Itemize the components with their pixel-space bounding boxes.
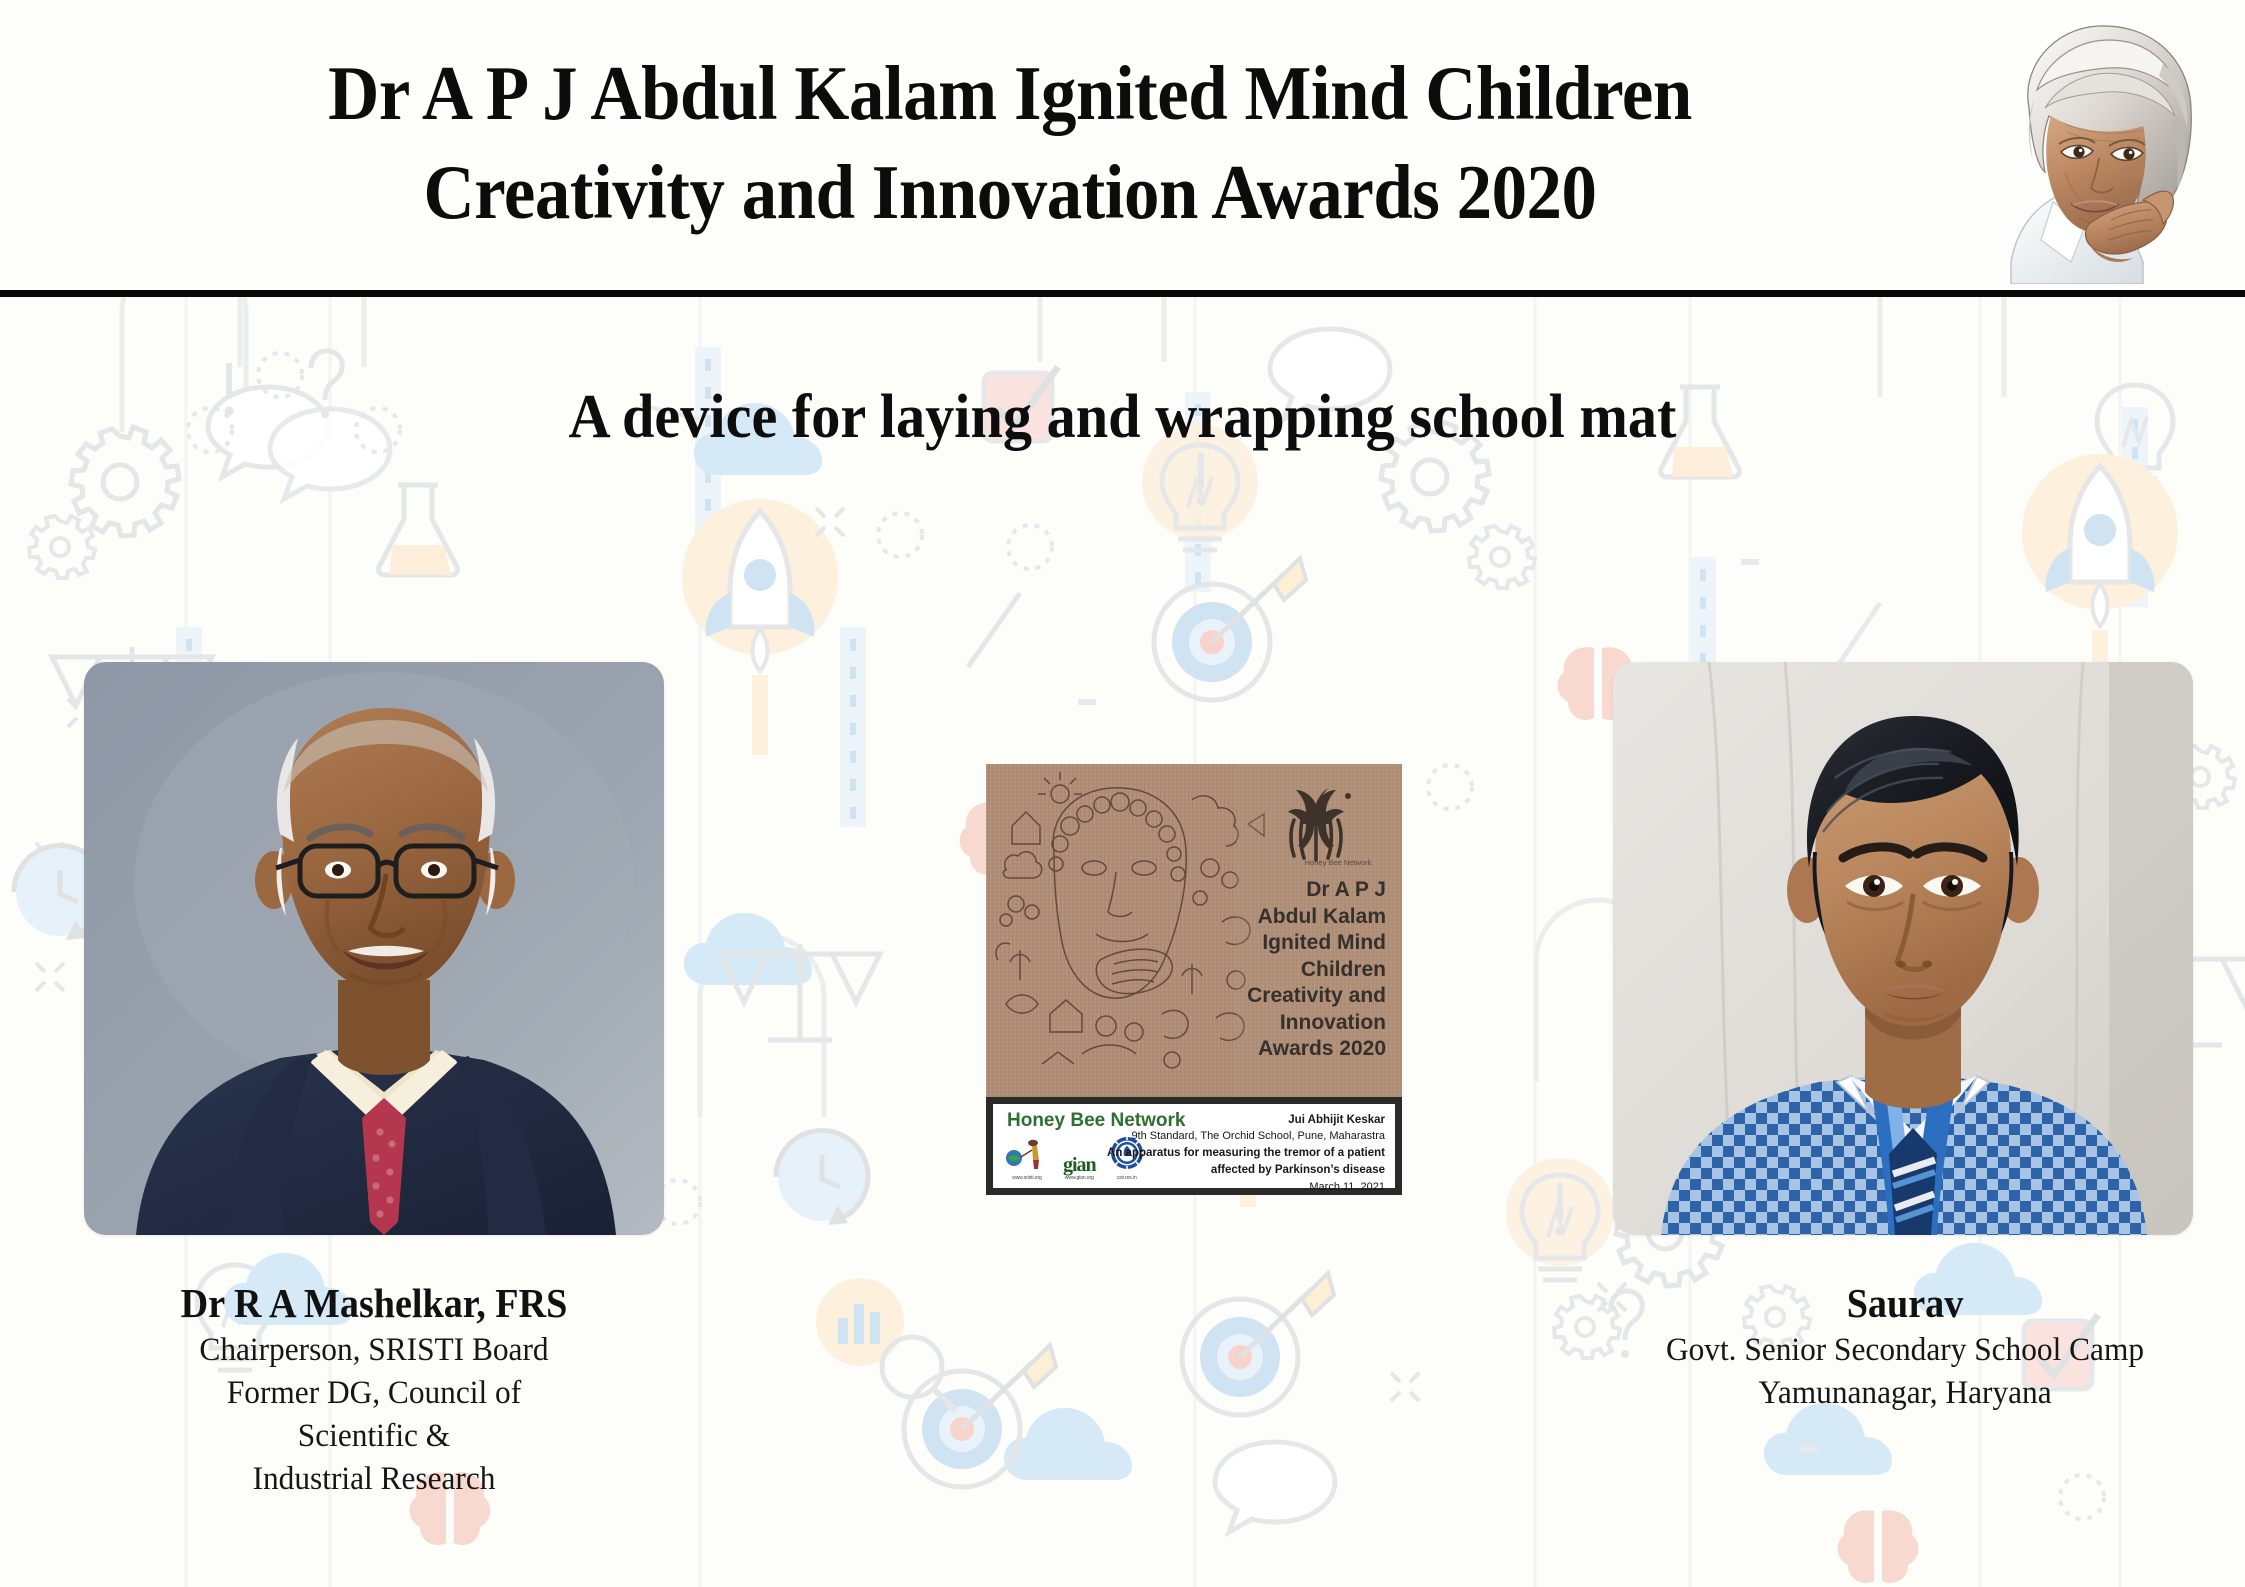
cert-title-line-3: Ignited Mind <box>1186 930 1386 957</box>
innovation-description: An apparatus for measuring the tremor of… <box>1085 1145 1385 1179</box>
header-divider <box>0 290 2245 297</box>
caption-saurav-line-1: Govt. Senior Secondary School Camp <box>1615 1329 2195 1372</box>
caption-saurav-line-2: Yamunanagar, Haryana <box>1615 1372 2195 1415</box>
certificate-award-title: Dr A P J Abdul Kalam Ignited Mind Childr… <box>1186 877 1386 1063</box>
recipient-name: Jui Abhijit Keskar <box>1085 1112 1385 1128</box>
caption-mashelkar-line-3: Scientific & <box>80 1415 669 1458</box>
award-certificate: Honey Bee Network Dr A P J Abdul Kalam I… <box>986 764 1402 1195</box>
certificate-date: March 11, 2021 <box>1085 1179 1385 1196</box>
kalam-portrait-illustration <box>1993 12 2223 284</box>
cert-title-line-1: Dr A P J <box>1186 877 1386 904</box>
cert-title-line-2: Abdul Kalam <box>1186 904 1386 931</box>
cert-title-line-5: Creativity and <box>1186 983 1386 1010</box>
caption-mashelkar-line-2: Former DG, Council of <box>80 1372 669 1415</box>
cert-title-line-4: Children <box>1186 957 1386 984</box>
certificate-footer: Honey Bee Network www.sristi.org <box>986 1097 1402 1195</box>
sristi-logo-url: www.sristi.org <box>1005 1175 1049 1181</box>
page-title: Dr A P J Abdul Kalam Ignited Mind Childr… <box>90 44 1930 242</box>
recipient-school: 9th Standard, The Orchid School, Pune, M… <box>1085 1128 1385 1145</box>
caption-saurav: Saurav Govt. Senior Secondary School Cam… <box>1600 1278 2210 1415</box>
caption-mashelkar-line-4: Industrial Research <box>80 1458 669 1501</box>
poster-header: Dr A P J Abdul Kalam Ignited Mind Childr… <box>0 0 2245 294</box>
sristi-logo: www.sristi.org <box>1005 1136 1049 1181</box>
photo-saurav <box>1613 662 2193 1235</box>
cert-title-line-6: Innovation <box>1186 1010 1386 1037</box>
title-line-2: Creativity and Innovation Awards 2020 <box>164 143 1857 242</box>
certificate-recipient-details: Jui Abhijit Keskar 9th Standard, The Orc… <box>1085 1112 1385 1196</box>
title-line-1: Dr A P J Abdul Kalam Ignited Mind Childr… <box>164 44 1857 143</box>
cert-title-line-7: Awards 2020 <box>1186 1036 1386 1063</box>
caption-name-mashelkar: Dr R A Mashelkar, FRS <box>86 1278 663 1329</box>
poster-root: Dr A P J Abdul Kalam Ignited Mind Childr… <box>0 0 2245 1587</box>
caption-name-saurav: Saurav <box>1621 1278 2188 1329</box>
caption-mashelkar-line-1: Chairperson, SRISTI Board <box>80 1329 669 1372</box>
certificate-artwork: Honey Bee Network Dr A P J Abdul Kalam I… <box>986 764 1402 1099</box>
caption-dr-mashelkar: Dr R A Mashelkar, FRS Chairperson, SRIST… <box>64 1278 684 1501</box>
photo-dr-mashelkar <box>84 662 664 1235</box>
innovation-subtitle: A device for laying and wrapping school … <box>67 378 2177 456</box>
